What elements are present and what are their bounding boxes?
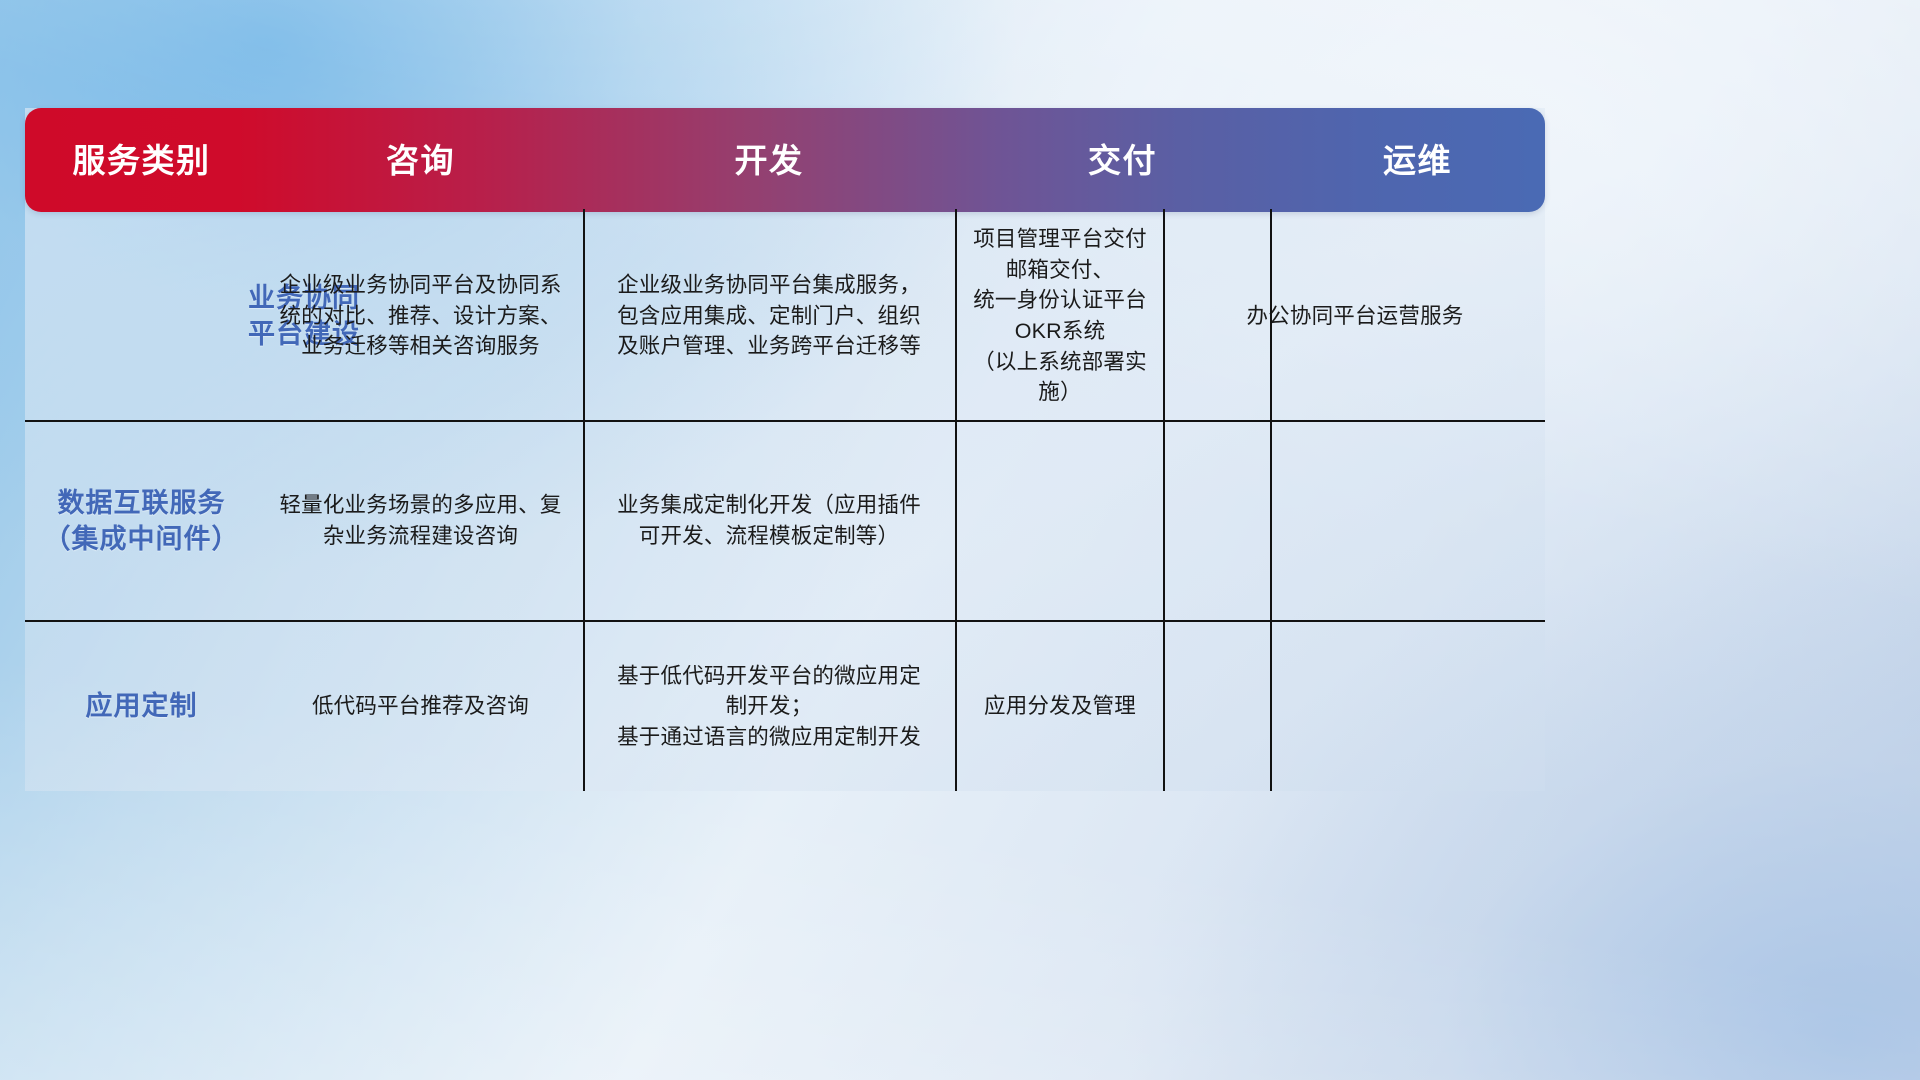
header-cell-operations: 运维: [1290, 144, 1545, 177]
row-category-cell: 业务协同 平台建设: [25, 212, 583, 420]
row-category-label: 业务协同 平台建设: [248, 280, 360, 353]
column-divider: [583, 209, 585, 791]
cell-consulting: 低代码平台推荐及咨询: [258, 622, 583, 791]
header-cell-consulting: 咨询: [258, 144, 583, 177]
cell-operations: [1165, 422, 1545, 620]
row-divider: [25, 620, 1545, 622]
service-category-table: 服务类别 咨询 开发 交付 运维 业务协同 平台建设 企业级业务协同平台及协同系…: [25, 108, 1545, 791]
header-cell-service-category: 服务类别: [25, 144, 258, 177]
column-divider: [1270, 209, 1272, 791]
header-cell-development: 开发: [583, 144, 955, 177]
cell-text-development: 基于低代码开发平台的微应用定 制开发； 基于通过语言的微应用定制开发: [617, 661, 921, 753]
cell-text-consulting: 低代码平台推荐及咨询: [312, 691, 529, 722]
cell-consulting: 轻量化业务场景的多应用、复 杂业务流程建设咨询: [258, 422, 583, 620]
cell-text-delivery: 应用分发及管理: [984, 691, 1136, 722]
row-category-label: 应用定制: [86, 688, 198, 724]
table-body: 业务协同 平台建设 企业级业务协同平台及协同系 统的对比、推荐、设计方案、 业务…: [25, 212, 1545, 791]
cell-text-development: 业务集成定制化开发（应用插件 可开发、流程模板定制等）: [617, 490, 921, 551]
cell-development: 基于低代码开发平台的微应用定 制开发； 基于通过语言的微应用定制开发: [583, 622, 955, 791]
header-cell-delivery: 交付: [955, 144, 1290, 177]
cell-text-consulting: 轻量化业务场景的多应用、复 杂业务流程建设咨询: [279, 490, 561, 551]
row-divider: [25, 420, 1545, 422]
table-row: 数据互联服务 （集成中间件） 轻量化业务场景的多应用、复 杂业务流程建设咨询 业…: [25, 422, 1545, 620]
table-row: 应用定制 低代码平台推荐及咨询 基于低代码开发平台的微应用定 制开发； 基于通过…: [25, 622, 1545, 791]
column-divider: [1163, 209, 1165, 791]
cell-delivery: 应用分发及管理: [955, 622, 1165, 791]
cell-delivery: [955, 422, 1165, 620]
cell-development: 业务集成定制化开发（应用插件 可开发、流程模板定制等）: [583, 422, 955, 620]
column-divider: [955, 209, 957, 791]
row-category-cell: 应用定制: [25, 622, 258, 791]
row-category-cell: 数据互联服务 （集成中间件）: [25, 422, 258, 620]
table-header-row: 服务类别 咨询 开发 交付 运维: [25, 108, 1545, 212]
table-row: 业务协同 平台建设: [25, 212, 1545, 420]
cell-operations: [1165, 622, 1545, 791]
row-category-label: 数据互联服务 （集成中间件）: [44, 485, 240, 558]
